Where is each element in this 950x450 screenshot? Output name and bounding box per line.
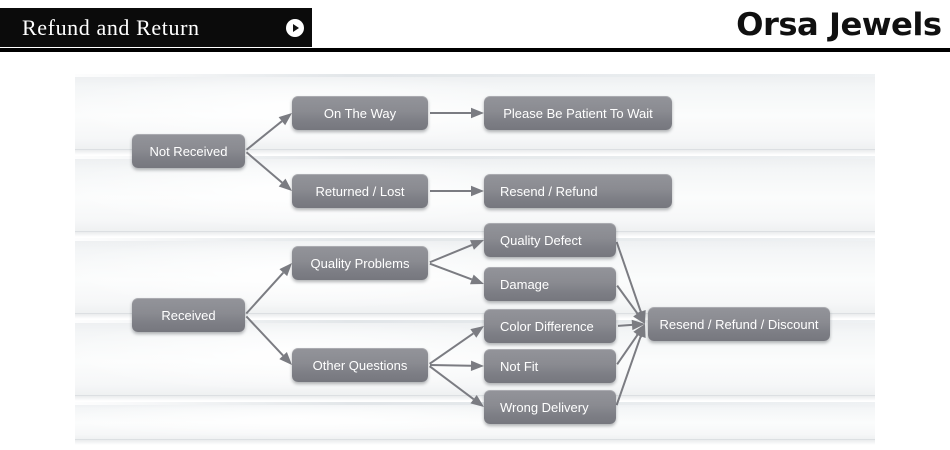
flow-node-label: Quality Defect	[500, 233, 582, 248]
section-title-bar: Refund and Return	[0, 8, 312, 47]
connector-arrowhead	[279, 179, 292, 191]
flow-node-resend-refund-discount[interactable]: Resend / Refund / Discount	[648, 307, 830, 341]
flow-node-not-fit[interactable]: Not Fit	[484, 349, 616, 383]
connector-line	[246, 316, 283, 355]
connector-line	[247, 121, 282, 150]
connector-line	[617, 242, 641, 312]
play-circle-icon	[286, 19, 304, 37]
flow-node-label: Received	[161, 308, 215, 323]
connector-arrowhead	[279, 263, 292, 276]
connector-arrowhead	[470, 275, 484, 285]
flow-node-quality-problems[interactable]: Quality Problems	[292, 246, 428, 280]
flowchart-canvas: Not ReceivedOn The WayReturned / LostPle…	[0, 52, 950, 450]
connector-line	[247, 152, 283, 182]
connector-line	[617, 335, 637, 365]
connector-arrowhead	[471, 108, 484, 118]
flow-node-label: Resend / Refund	[500, 184, 598, 199]
connector-arrowhead	[279, 113, 292, 125]
flow-node-label: On The Way	[324, 106, 396, 121]
flow-node-label: Damage	[500, 277, 549, 292]
connector-arrowhead	[471, 361, 484, 371]
flow-node-damage[interactable]: Damage	[484, 267, 616, 301]
connector-line	[617, 336, 641, 405]
connector-line	[430, 333, 474, 363]
flow-node-received[interactable]: Received	[132, 298, 245, 332]
connector-arrowhead	[632, 320, 645, 330]
connector-line	[246, 273, 283, 314]
flow-node-please-be-patient[interactable]: Please Be Patient To Wait	[484, 96, 672, 130]
connector-line	[430, 365, 471, 366]
connector-arrowhead	[279, 352, 292, 365]
connector-arrowhead	[636, 310, 646, 324]
flow-node-label: Color Difference	[500, 319, 594, 334]
connector-arrowhead	[633, 310, 645, 324]
flow-node-label: Please Be Patient To Wait	[503, 106, 653, 121]
flow-node-label: Not Fit	[500, 359, 538, 374]
flow-node-label: Resend / Refund / Discount	[660, 317, 819, 332]
connector-line	[430, 264, 472, 280]
flow-node-wrong-delivery[interactable]: Wrong Delivery	[484, 390, 616, 424]
flow-node-resend-refund[interactable]: Resend / Refund	[484, 174, 672, 208]
connector-arrowhead	[470, 395, 484, 407]
connector-line	[430, 245, 472, 262]
connector-arrowhead	[636, 324, 646, 338]
connector-line	[617, 286, 637, 314]
background-band	[75, 402, 875, 440]
flow-node-label: Other Questions	[313, 358, 408, 373]
page-root: Refund and Return Orsa Jewels Not Receiv…	[0, 0, 950, 450]
flowchart-connectors	[0, 52, 950, 450]
connector-arrowhead	[633, 324, 645, 338]
flow-node-label: Returned / Lost	[316, 184, 405, 199]
page-header: Refund and Return Orsa Jewels	[0, 0, 950, 52]
flow-node-label: Wrong Delivery	[500, 400, 589, 415]
connector-line	[618, 325, 632, 326]
brand-logo: Orsa Jewels	[736, 4, 942, 46]
page-title: Refund and Return	[22, 15, 200, 41]
flow-node-quality-defect[interactable]: Quality Defect	[484, 223, 616, 257]
connector-line	[430, 366, 474, 399]
connector-arrowhead	[470, 326, 484, 338]
flow-node-returned-lost[interactable]: Returned / Lost	[292, 174, 428, 208]
flow-node-other-questions[interactable]: Other Questions	[292, 348, 428, 382]
connector-arrowhead	[471, 186, 484, 196]
flow-node-color-difference[interactable]: Color Difference	[484, 309, 616, 343]
flow-node-label: Not Received	[149, 144, 227, 159]
flow-node-not-received[interactable]: Not Received	[132, 134, 245, 168]
connector-arrowhead	[470, 240, 484, 250]
flow-node-label: Quality Problems	[311, 256, 410, 271]
flow-node-on-the-way[interactable]: On The Way	[292, 96, 428, 130]
